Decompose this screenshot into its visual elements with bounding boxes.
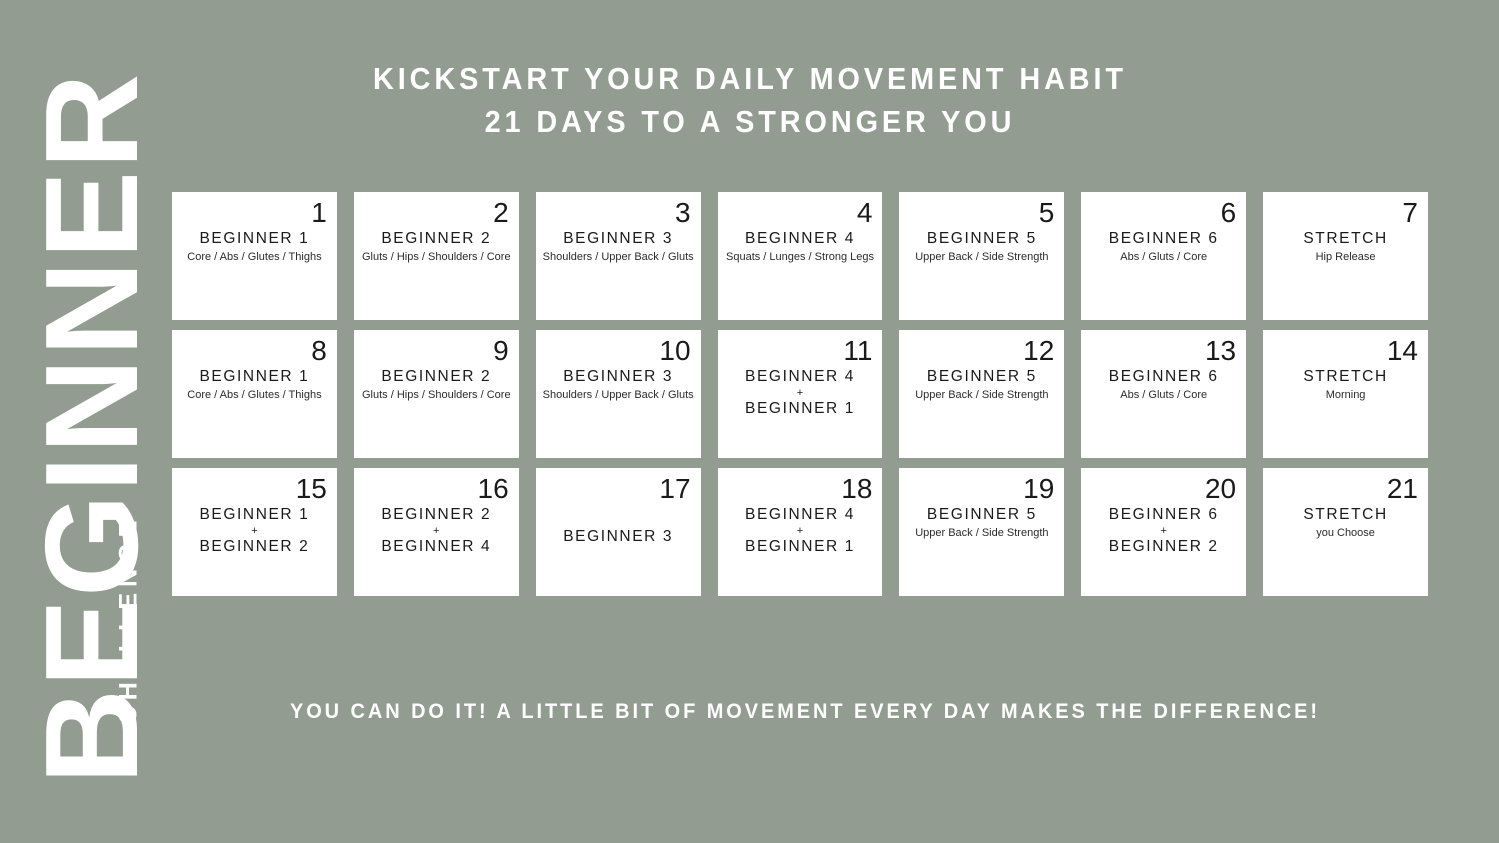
- day-card[interactable]: 5BEGINNER 5Upper Back / Side Strength: [899, 192, 1064, 320]
- workout-title: BEGINNER 2: [381, 505, 491, 525]
- workout-focus-areas: Abs / Gluts / Core: [1120, 388, 1207, 403]
- workout-title: BEGINNER 1: [199, 505, 309, 525]
- workout-title: BEGINNER 3: [563, 229, 673, 249]
- workout-title: BEGINNER 4: [745, 505, 855, 525]
- day-card[interactable]: 2BEGINNER 2Gluts / Hips / Shoulders / Co…: [354, 192, 519, 320]
- day-card[interactable]: 8BEGINNER 1Core / Abs / Glutes / Thighs: [172, 330, 337, 458]
- day-number: 18: [728, 474, 873, 503]
- day-card[interactable]: 20BEGINNER 6+BEGINNER 2: [1081, 468, 1246, 596]
- day-card-body: STRETCHHip Release: [1273, 227, 1418, 312]
- workout-title: BEGINNER 2: [381, 229, 491, 249]
- workout-focus-areas: Gluts / Hips / Shoulders / Core: [362, 388, 511, 403]
- day-card[interactable]: 19BEGINNER 5Upper Back / Side Strength: [899, 468, 1064, 596]
- workout-title-secondary: BEGINNER 1: [745, 537, 855, 557]
- day-number: 15: [182, 474, 327, 503]
- calendar-grid: 1BEGINNER 1Core / Abs / Glutes / Thighs2…: [172, 192, 1428, 596]
- page-footer: YOU CAN DO IT! A LITTLE BIT OF MOVEMENT …: [170, 700, 1440, 724]
- day-card[interactable]: 10BEGINNER 3Shoulders / Upper Back / Glu…: [536, 330, 701, 458]
- brand-subtitle: CHALLENGE: [115, 475, 144, 765]
- day-card-body: BEGINNER 3Shoulders / Upper Back / Gluts: [546, 365, 691, 450]
- footer-motivation-text: YOU CAN DO IT! A LITTLE BIT OF MOVEMENT …: [202, 700, 1409, 724]
- day-card[interactable]: 7STRETCHHip Release: [1263, 192, 1428, 320]
- day-card[interactable]: 3BEGINNER 3Shoulders / Upper Back / Glut…: [536, 192, 701, 320]
- workout-focus-areas: Core / Abs / Glutes / Thighs: [187, 388, 321, 403]
- plus-separator: +: [797, 387, 803, 399]
- workout-title: STRETCH: [1303, 367, 1387, 387]
- day-number: 3: [546, 198, 691, 227]
- workout-focus-areas: Shoulders / Upper Back / Gluts: [543, 388, 694, 403]
- plus-separator: +: [433, 525, 439, 537]
- workout-title-secondary: BEGINNER 2: [199, 537, 309, 557]
- plus-separator: +: [1160, 525, 1166, 537]
- day-number: 20: [1091, 474, 1236, 503]
- day-card-body: BEGINNER 5Upper Back / Side Strength: [909, 365, 1054, 450]
- day-number: 14: [1273, 336, 1418, 365]
- day-card[interactable]: 13BEGINNER 6Abs / Gluts / Core: [1081, 330, 1246, 458]
- day-card-body: BEGINNER 4+BEGINNER 1: [728, 365, 873, 450]
- day-number: 1: [182, 198, 327, 227]
- workout-focus-areas: Upper Back / Side Strength: [915, 250, 1048, 265]
- workout-title: BEGINNER 5: [927, 229, 1037, 249]
- day-card-body: BEGINNER 3Shoulders / Upper Back / Gluts: [546, 227, 691, 312]
- day-number: 6: [1091, 198, 1236, 227]
- day-number: 12: [909, 336, 1054, 365]
- day-card[interactable]: 17BEGINNER 3: [536, 468, 701, 596]
- day-card[interactable]: 16BEGINNER 2+BEGINNER 4: [354, 468, 519, 596]
- day-card-body: BEGINNER 4Squats / Lunges / Strong Legs: [728, 227, 873, 312]
- day-card-body: BEGINNER 6Abs / Gluts / Core: [1091, 365, 1236, 450]
- day-card-body: BEGINNER 2+BEGINNER 4: [364, 503, 509, 588]
- brand-rail: BEGINNER CHALLENGE: [0, 0, 170, 843]
- workout-focus-areas: Gluts / Hips / Shoulders / Core: [362, 250, 511, 265]
- workout-title: BEGINNER 6: [1109, 229, 1219, 249]
- day-card[interactable]: 9BEGINNER 2Gluts / Hips / Shoulders / Co…: [354, 330, 519, 458]
- workout-title-secondary: BEGINNER 1: [745, 399, 855, 419]
- day-card[interactable]: 4BEGINNER 4Squats / Lunges / Strong Legs: [718, 192, 883, 320]
- day-number: 21: [1273, 474, 1418, 503]
- day-number: 5: [909, 198, 1054, 227]
- workout-title: BEGINNER 5: [927, 367, 1037, 387]
- day-card-body: BEGINNER 3: [546, 503, 691, 588]
- day-card-body: BEGINNER 5Upper Back / Side Strength: [909, 227, 1054, 312]
- day-number: 17: [546, 474, 691, 503]
- workout-title: BEGINNER 4: [745, 367, 855, 387]
- workout-title: BEGINNER 2: [381, 367, 491, 387]
- day-number: 16: [364, 474, 509, 503]
- day-number: 4: [728, 198, 873, 227]
- day-number: 9: [364, 336, 509, 365]
- day-card-body: BEGINNER 6+BEGINNER 2: [1091, 503, 1236, 588]
- workout-title: BEGINNER 6: [1109, 505, 1219, 525]
- day-card[interactable]: 18BEGINNER 4+BEGINNER 1: [718, 468, 883, 596]
- page-header: KICKSTART YOUR DAILY MOVEMENT HABIT 21 D…: [170, 58, 1330, 144]
- workout-focus-areas: Morning: [1326, 388, 1366, 403]
- day-number: 13: [1091, 336, 1236, 365]
- workout-focus-areas: Core / Abs / Glutes / Thighs: [187, 250, 321, 265]
- day-number: 10: [546, 336, 691, 365]
- day-card-body: BEGINNER 1+BEGINNER 2: [182, 503, 327, 588]
- workout-focus-areas: Upper Back / Side Strength: [915, 526, 1048, 541]
- day-card[interactable]: 15BEGINNER 1+BEGINNER 2: [172, 468, 337, 596]
- workout-focus-areas: Shoulders / Upper Back / Gluts: [543, 250, 694, 265]
- workout-title: STRETCH: [1303, 505, 1387, 525]
- day-number: 19: [909, 474, 1054, 503]
- workout-focus-areas: Upper Back / Side Strength: [915, 388, 1048, 403]
- day-card-body: BEGINNER 6Abs / Gluts / Core: [1091, 227, 1236, 312]
- day-number: 2: [364, 198, 509, 227]
- day-card-body: STRETCHyou Choose: [1273, 503, 1418, 588]
- day-card[interactable]: 21STRETCHyou Choose: [1263, 468, 1428, 596]
- workout-focus-areas: you Choose: [1316, 526, 1375, 541]
- day-card[interactable]: 1BEGINNER 1Core / Abs / Glutes / Thighs: [172, 192, 337, 320]
- plus-separator: +: [797, 525, 803, 537]
- workout-title: BEGINNER 6: [1109, 367, 1219, 387]
- day-number: 11: [728, 336, 873, 365]
- day-card-body: BEGINNER 2Gluts / Hips / Shoulders / Cor…: [364, 227, 509, 312]
- workout-title-secondary: BEGINNER 2: [1109, 537, 1219, 557]
- workout-title: BEGINNER 1: [199, 367, 309, 387]
- workout-title: STRETCH: [1303, 229, 1387, 249]
- day-card-body: BEGINNER 1Core / Abs / Glutes / Thighs: [182, 227, 327, 312]
- day-card-body: BEGINNER 4+BEGINNER 1: [728, 503, 873, 588]
- day-card-body: BEGINNER 2Gluts / Hips / Shoulders / Cor…: [364, 365, 509, 450]
- workout-title: BEGINNER 5: [927, 505, 1037, 525]
- day-card[interactable]: 14STRETCHMorning: [1263, 330, 1428, 458]
- day-card[interactable]: 6BEGINNER 6Abs / Gluts / Core: [1081, 192, 1246, 320]
- workout-title: BEGINNER 1: [199, 229, 309, 249]
- day-number: 8: [182, 336, 327, 365]
- workout-focus-areas: Hip Release: [1316, 250, 1376, 265]
- workout-focus-areas: Squats / Lunges / Strong Legs: [726, 250, 874, 265]
- workout-focus-areas: Abs / Gluts / Core: [1120, 250, 1207, 265]
- workout-title: BEGINNER 4: [745, 229, 855, 249]
- header-line-2: 21 DAYS TO A STRONGER YOU: [211, 101, 1290, 144]
- day-card-body: STRETCHMorning: [1273, 365, 1418, 450]
- day-number: 7: [1273, 198, 1418, 227]
- day-card[interactable]: 11BEGINNER 4+BEGINNER 1: [718, 330, 883, 458]
- workout-title-secondary: BEGINNER 4: [381, 537, 491, 557]
- workout-title: BEGINNER 3: [563, 527, 673, 547]
- workout-title: BEGINNER 3: [563, 367, 673, 387]
- day-card-body: BEGINNER 1Core / Abs / Glutes / Thighs: [182, 365, 327, 450]
- day-card-body: BEGINNER 5Upper Back / Side Strength: [909, 503, 1054, 588]
- plus-separator: +: [251, 525, 257, 537]
- header-line-1: KICKSTART YOUR DAILY MOVEMENT HABIT: [211, 58, 1290, 101]
- day-card[interactable]: 12BEGINNER 5Upper Back / Side Strength: [899, 330, 1064, 458]
